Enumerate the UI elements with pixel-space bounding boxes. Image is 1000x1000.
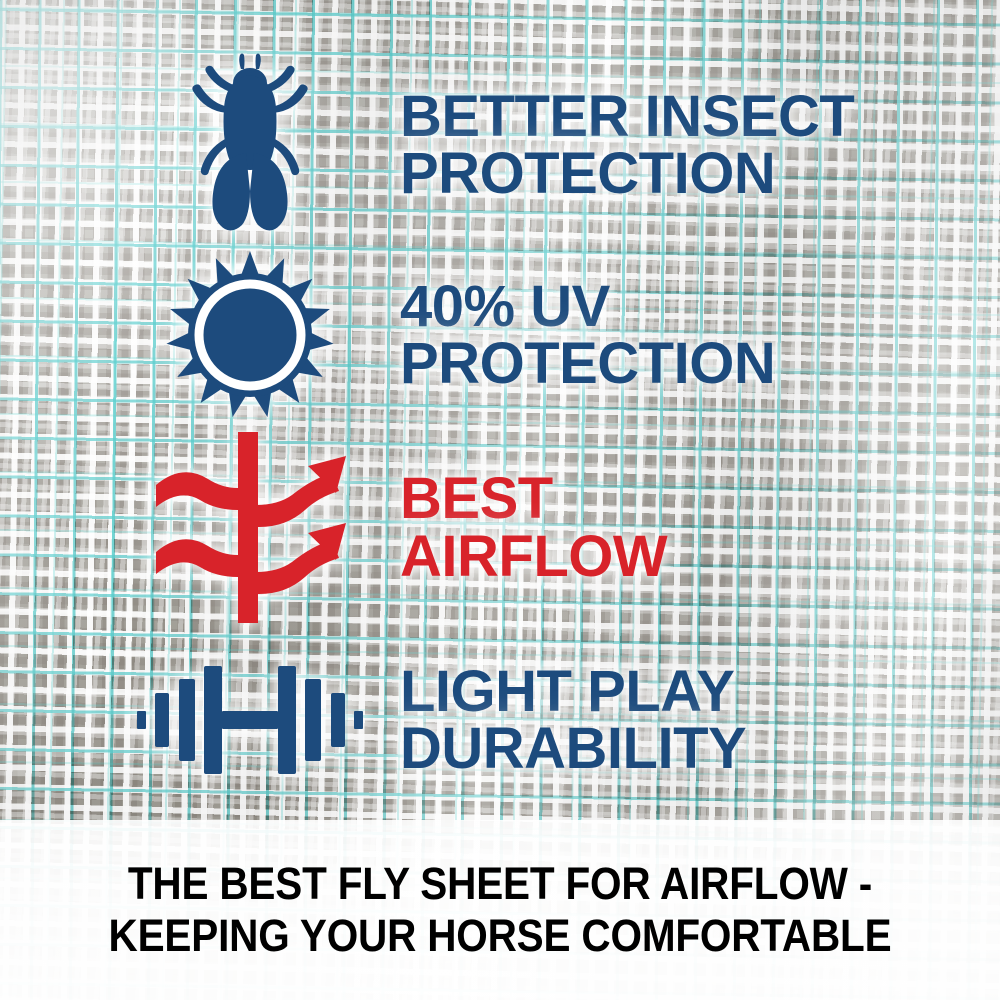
fly-icon [130, 50, 370, 240]
feature-list: BETTER INSECT PROTECTION [0, 0, 1000, 820]
feature-item-durability: LIGHT PLAY DURABILITY [0, 625, 1000, 815]
feature-item-airflow: BEST AIRFLOW [0, 425, 1000, 630]
feature-label-durability: LIGHT PLAY DURABILITY [400, 663, 746, 778]
feature-label-insect-protection: BETTER INSECT PROTECTION [400, 88, 854, 203]
airflow-icon [130, 433, 370, 623]
feature-label-airflow: BEST AIRFLOW [400, 470, 667, 585]
banner-tagline: THE BEST FLY SHEET FOR AIRFLOW - KEEPING… [109, 858, 892, 962]
sun-icon [130, 240, 370, 430]
product-feature-infographic: BETTER INSECT PROTECTION [0, 0, 1000, 1000]
bottom-banner: THE BEST FLY SHEET FOR AIRFLOW - KEEPING… [0, 820, 1000, 1000]
dumbbell-icon [130, 625, 370, 815]
feature-item-insect-protection: BETTER INSECT PROTECTION [0, 45, 1000, 245]
feature-label-uv-protection: 40% UV PROTECTION [400, 278, 775, 393]
feature-item-uv-protection: 40% UV PROTECTION [0, 240, 1000, 430]
